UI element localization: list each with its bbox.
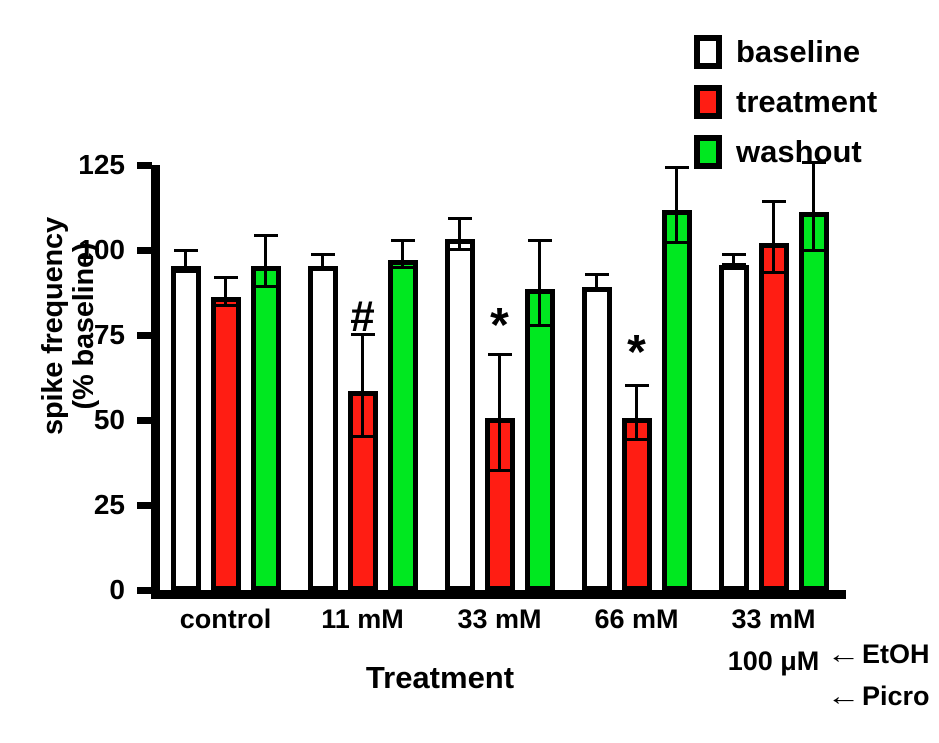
- x-tick-label-4: 66 mM: [594, 604, 678, 635]
- error-bar-cap-lower: [391, 266, 415, 269]
- error-bar-cap-lower: [351, 435, 375, 438]
- legend-swatch-treatment: [694, 85, 722, 119]
- bar-washout-4[interactable]: [662, 210, 692, 591]
- y-tick-50: [137, 417, 152, 424]
- error-bar-cap-lower: [762, 271, 786, 274]
- x-axis-label: Treatment: [160, 660, 720, 696]
- chart-legend: baseline treatment washout: [694, 30, 877, 180]
- error-bar-cap-lower: [585, 287, 609, 290]
- error-bar-cap-lower: [214, 304, 238, 307]
- bar-baseline-1[interactable]: [171, 266, 201, 591]
- bar-baseline-5[interactable]: [719, 265, 749, 591]
- bar-baseline-2[interactable]: [308, 266, 338, 591]
- bar-washout-1[interactable]: [251, 266, 281, 591]
- legend-swatch-baseline: [694, 35, 722, 69]
- error-bar-cap-lower: [311, 266, 335, 269]
- bar-group-3: [434, 160, 571, 595]
- error-bar-cap-upper: [528, 239, 552, 242]
- legend-item-treatment: treatment: [694, 80, 877, 124]
- error-bar-line: [458, 220, 461, 251]
- error-bar-cap-lower: [448, 248, 472, 251]
- error-bar-cap-upper: [448, 217, 472, 220]
- bar-treatment-1[interactable]: [211, 297, 241, 591]
- error-bar-cap-upper: [214, 276, 238, 279]
- bar-baseline-3[interactable]: [445, 239, 475, 591]
- y-tick-label-0: 0: [55, 574, 125, 606]
- significance-marker-1: #: [350, 295, 374, 339]
- y-tick-label-75: 75: [55, 319, 125, 351]
- y-tick-0: [137, 587, 152, 594]
- error-bar-cap-upper: [722, 253, 746, 256]
- error-bar-cap-upper: [585, 273, 609, 276]
- y-tick-label-50: 50: [55, 404, 125, 436]
- error-bar-cap-upper: [802, 161, 826, 164]
- y-axis-line: [151, 165, 160, 595]
- bar-washout-3[interactable]: [525, 289, 555, 592]
- error-bar-cap-lower: [528, 324, 552, 327]
- error-bar-cap-lower: [722, 263, 746, 266]
- bar-washout-2[interactable]: [388, 260, 418, 591]
- left-arrow-icon: ←: [827, 681, 861, 712]
- y-tick-125: [137, 162, 152, 169]
- error-bar-cap-lower: [174, 270, 198, 273]
- error-bar-line: [401, 242, 404, 269]
- bar-treatment-5[interactable]: [759, 243, 789, 591]
- x-tick-label-2: 11 mM: [321, 604, 404, 635]
- bar-treatment-2[interactable]: [348, 391, 378, 592]
- y-axis-tick-labels: 0255075100125: [55, 160, 125, 595]
- error-bar-line: [772, 203, 775, 274]
- bar-treatment-4[interactable]: [622, 418, 652, 591]
- error-bar-line: [538, 242, 541, 327]
- x-tick-label-3: 33 mM: [457, 604, 541, 635]
- y-tick-label-25: 25: [55, 489, 125, 521]
- error-bar-cap-lower: [254, 285, 278, 288]
- bar-group-1: [160, 160, 297, 595]
- error-bar-cap-upper: [625, 384, 649, 387]
- error-bar-cap-upper: [254, 234, 278, 237]
- bar-baseline-4[interactable]: [582, 287, 612, 591]
- annotation-picro-label: Picro: [862, 681, 930, 711]
- error-bar-cap-lower: [802, 249, 826, 252]
- x-tick-label-1: control: [180, 604, 272, 635]
- error-bar-cap-upper: [762, 200, 786, 203]
- bar-group-2: [297, 160, 434, 595]
- legend-item-baseline: baseline: [694, 30, 877, 74]
- x-axis-tick-labels: control11 mM33 mM66 mM33 mM100 μM: [160, 604, 846, 644]
- annotation-picro: ←Picro: [800, 650, 930, 743]
- error-bar-cap-lower: [665, 241, 689, 244]
- error-bar-cap-upper: [391, 239, 415, 242]
- error-bar-cap-lower: [625, 438, 649, 441]
- error-bar-cap-lower: [488, 469, 512, 472]
- error-bar-cap-upper: [311, 253, 335, 256]
- y-tick-25: [137, 502, 152, 509]
- error-bar-cap-upper: [665, 166, 689, 169]
- error-bar-line: [361, 336, 364, 438]
- error-bar-line: [264, 237, 267, 288]
- y-tick-100: [137, 247, 152, 254]
- y-tick-label-100: 100: [55, 234, 125, 266]
- error-bar-line: [812, 164, 815, 252]
- y-tick-75: [137, 332, 152, 339]
- legend-label-baseline: baseline: [736, 34, 860, 70]
- error-bar-line: [635, 387, 638, 441]
- bar-washout-5[interactable]: [799, 212, 829, 591]
- error-bar-cap-upper: [488, 353, 512, 356]
- y-tick-label-125: 125: [55, 149, 125, 181]
- significance-marker-3: *: [627, 329, 646, 377]
- significance-marker-2: *: [490, 302, 509, 350]
- plot-area: 0255075100125 #**: [160, 160, 846, 595]
- bar-group-5: [708, 160, 845, 595]
- legend-label-treatment: treatment: [736, 84, 877, 120]
- chart-canvas: spike frequency (% baseline) baseline tr…: [0, 0, 939, 714]
- error-bar-line: [498, 356, 501, 472]
- error-bar-line: [675, 169, 678, 244]
- error-bar-line: [224, 279, 227, 306]
- error-bar-cap-upper: [174, 249, 198, 252]
- bar-treatment-3[interactable]: [485, 418, 515, 591]
